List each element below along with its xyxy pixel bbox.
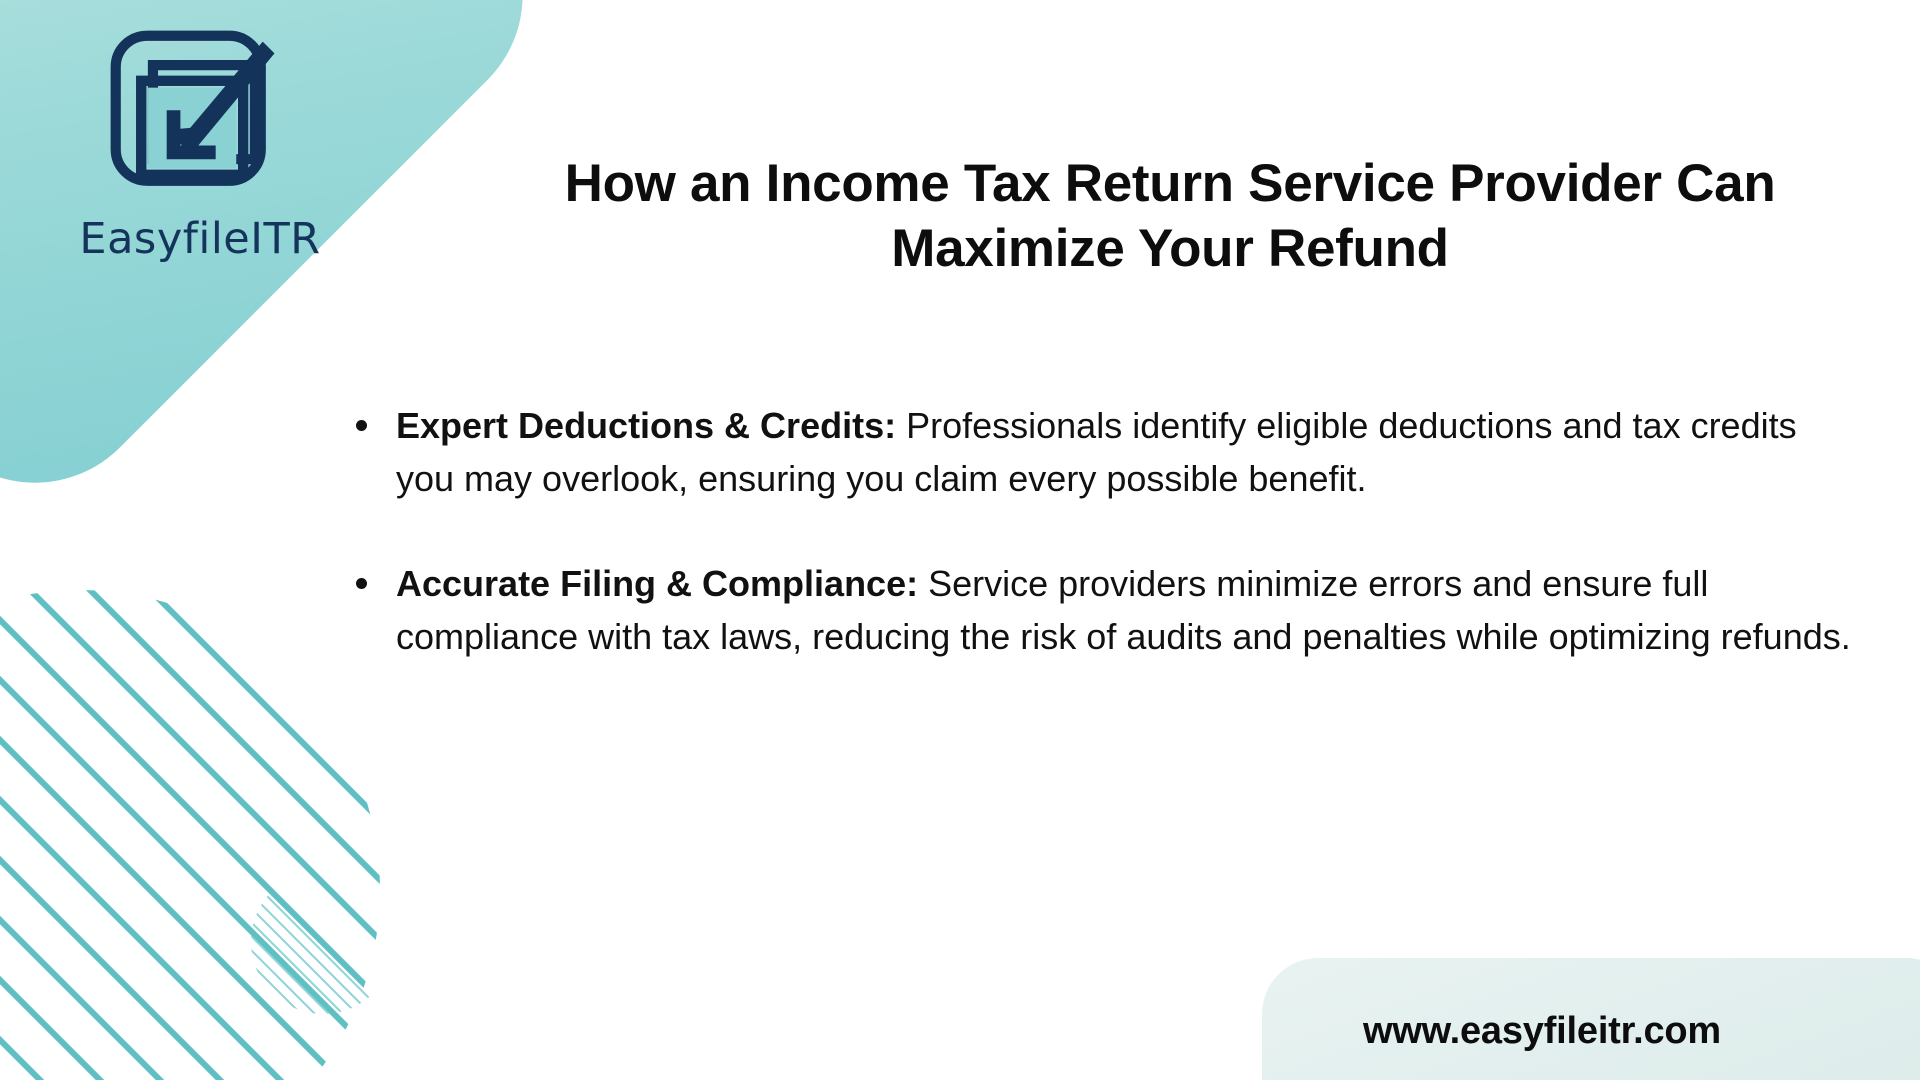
page-title: How an Income Tax Return Service Provide… [470,152,1870,281]
bullet-lead-label: Expert Deductions & Credits: [396,405,896,446]
brand-logo: EasyfileITR [70,22,330,264]
logo-wordmark: EasyfileITR [70,214,330,264]
bullet-dot-icon [356,420,367,431]
slide-canvas: EasyfileITR [0,0,1920,1080]
list-item: Accurate Filing & Compliance: Service pr… [352,558,1852,664]
bullet-lead-label: Accurate Filing & Compliance: [396,563,918,604]
diagonal-stripes-decoration-small [243,862,403,1022]
document-checkmark-icon [102,22,298,218]
bullet-dot-icon [356,578,367,589]
website-url: www.easyfileitr.com [1262,1010,1822,1053]
list-item: Expert Deductions & Credits: Professiona… [352,400,1852,506]
benefits-list: Expert Deductions & Credits: Professiona… [352,400,1852,664]
